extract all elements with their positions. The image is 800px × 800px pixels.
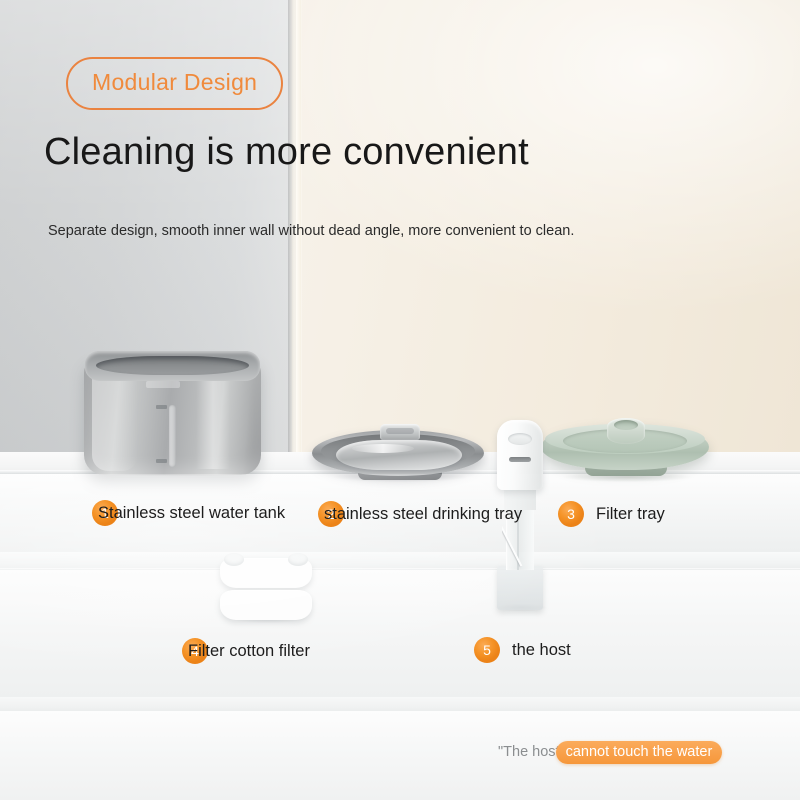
water-tank-product — [84, 351, 261, 475]
host-vent-slot — [509, 457, 531, 462]
filter-tray-spout-opening — [614, 420, 638, 430]
water-tank-level-window — [169, 405, 176, 467]
water-tank-emboss — [146, 381, 180, 388]
host-power-button — [508, 433, 532, 445]
page-subtitle: Separate design, smooth inner wall witho… — [48, 223, 574, 239]
filter-cotton-pad-lower — [220, 590, 312, 620]
page-title: Cleaning is more convenient — [44, 131, 529, 174]
water-tank-highlight-left — [92, 377, 138, 471]
callout-number-badge: 5 — [474, 637, 500, 663]
footnote-plain-text: "The host — [498, 744, 560, 760]
drinking-tray-product — [312, 424, 484, 480]
callout-label: Filter cotton filter — [188, 638, 310, 664]
drinking-tray-handle-slot — [386, 428, 414, 434]
drinking-tray-dome-highlight — [352, 444, 414, 453]
product-infographic: Modular Design Cleaning is more convenie… — [0, 0, 800, 800]
filter-cotton-pad-upper — [220, 558, 312, 588]
filter-cotton-notch-right — [288, 553, 308, 566]
filter-cotton-notch-left — [224, 553, 244, 566]
filter-tray-product — [541, 416, 709, 478]
callout-label: stainless steel drinking tray — [324, 501, 522, 527]
modular-design-tag: Modular Design — [66, 57, 283, 110]
water-tank-highlight-right — [196, 381, 230, 469]
water-tank-inner-cavity — [96, 356, 249, 375]
callout-label: the host — [512, 637, 571, 663]
callout-label: Filter tray — [596, 501, 665, 527]
counter-middle-front-face — [0, 570, 800, 700]
callout-number-badge: 3 — [558, 501, 584, 527]
host-head — [497, 420, 543, 490]
footnote-warning: "The host cannot touch the water — [498, 740, 722, 764]
filter-cotton-product — [220, 558, 312, 620]
host-power-cable — [502, 520, 542, 606]
callout-label: Stainless steel water tank — [98, 500, 285, 526]
water-tank-level-mark-min — [156, 459, 167, 463]
water-tank-level-mark-max — [156, 405, 167, 409]
footnote-highlight-text: cannot touch the water — [556, 741, 723, 764]
